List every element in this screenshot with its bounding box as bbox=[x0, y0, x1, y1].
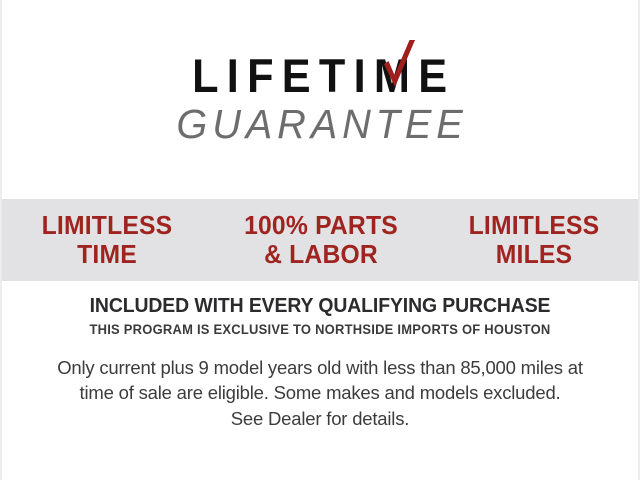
feature-line-primary: 100% PARTS bbox=[219, 211, 422, 240]
feature-limitless-time: LIMITLESS TIME bbox=[5, 211, 208, 270]
lifetime-guarantee-advertisement: LIFETIME GUARANTEE LIMITLESS TIME 100% P… bbox=[0, 0, 640, 480]
disclaimer-line: See Dealer for details. bbox=[2, 406, 638, 432]
feature-line-secondary: TIME bbox=[5, 240, 208, 269]
logo-block: LIFETIME GUARANTEE bbox=[2, 52, 638, 145]
footer-headline: INCLUDED WITH EVERY QUALIFYING PURCHASE bbox=[12, 295, 629, 319]
feature-line-primary: LIMITLESS bbox=[433, 211, 634, 240]
feature-band: LIMITLESS TIME 100% PARTS & LABOR LIMITL… bbox=[2, 199, 638, 281]
logo-secondary-text: GUARANTEE bbox=[172, 104, 468, 145]
feature-limitless-miles: LIMITLESS MILES bbox=[433, 211, 634, 270]
feature-line-secondary: & LABOR bbox=[219, 240, 422, 269]
footer-block: INCLUDED WITH EVERY QUALIFYING PURCHASE … bbox=[2, 295, 638, 431]
disclaimer-line: time of sale are eligible. Some makes an… bbox=[2, 380, 638, 406]
footer-subheadline: THIS PROGRAM IS EXCLUSIVE TO NORTHSIDE I… bbox=[15, 322, 626, 338]
feature-line-primary: LIMITLESS bbox=[5, 211, 208, 240]
feature-line-secondary: MILES bbox=[433, 240, 634, 269]
feature-parts-labor: 100% PARTS & LABOR bbox=[219, 211, 422, 270]
logo-primary-text: LIFETIME bbox=[180, 52, 461, 99]
footer-disclaimer: Only current plus 9 model years old with… bbox=[2, 355, 638, 432]
disclaimer-line: Only current plus 9 model years old with… bbox=[2, 355, 638, 381]
logo-lockup: LIFETIME GUARANTEE bbox=[167, 52, 472, 145]
